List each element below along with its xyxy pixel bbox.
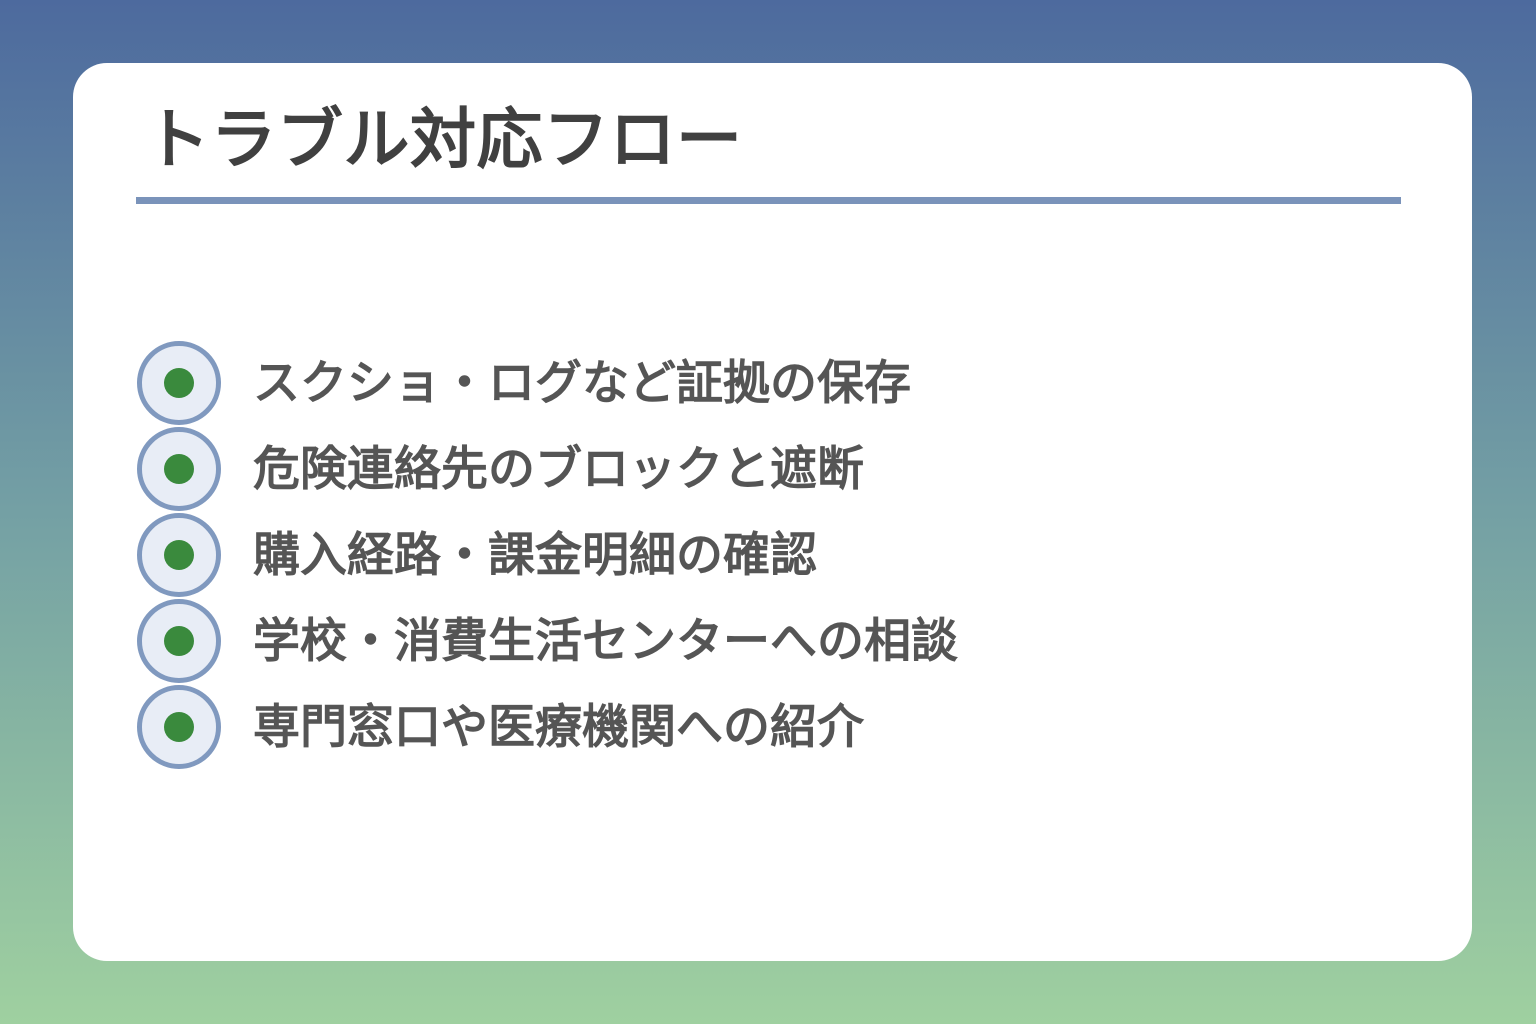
slide-canvas: トラブル対応フロー スクショ・ログなど証拠の保存 危険連絡先のブロックと遮断 [0,0,1536,1024]
content-card: トラブル対応フロー スクショ・ログなど証拠の保存 危険連絡先のブロックと遮断 [73,63,1472,961]
list-item-label: 専門窓口や医療機関への紹介 [253,704,864,751]
list-item[interactable]: 専門窓口や医療機関への紹介 [137,684,1427,770]
bullet-dot-icon [164,626,194,656]
filled-circle-bullet-icon [137,685,221,769]
bullet-dot-icon [164,368,194,398]
list-item[interactable]: 危険連絡先のブロックと遮断 [137,426,1427,512]
bullet-dot-icon [164,712,194,742]
bullet-dot-icon [164,540,194,570]
list-item-label: 学校・消費生活センターへの相談 [253,618,958,665]
title-block: トラブル対応フロー [136,100,1401,204]
list-item-label: スクショ・ログなど証拠の保存 [253,360,911,407]
filled-circle-bullet-icon [137,427,221,511]
page-title: トラブル対応フロー [136,100,1401,181]
list-item[interactable]: 学校・消費生活センターへの相談 [137,598,1427,684]
list-item-label: 購入経路・課金明細の確認 [253,532,817,579]
filled-circle-bullet-icon [137,599,221,683]
list-item-label: 危険連絡先のブロックと遮断 [253,446,864,493]
bullet-dot-icon [164,454,194,484]
title-underline-rule [136,197,1401,204]
list-item[interactable]: 購入経路・課金明細の確認 [137,512,1427,598]
filled-circle-bullet-icon [137,341,221,425]
bullet-list: スクショ・ログなど証拠の保存 危険連絡先のブロックと遮断 購入経路・課金明細の確… [137,340,1427,770]
filled-circle-bullet-icon [137,513,221,597]
list-item[interactable]: スクショ・ログなど証拠の保存 [137,340,1427,426]
